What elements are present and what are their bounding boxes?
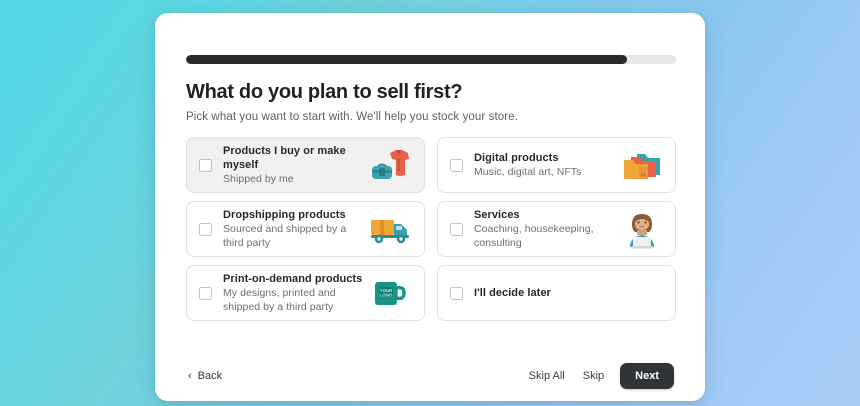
- option-card-print-on-demand-products[interactable]: Print-on-demand productsMy designs, prin…: [186, 265, 425, 321]
- option-text: ServicesCoaching, housekeeping, consulti…: [474, 208, 619, 250]
- option-description: Shipped by me: [223, 173, 364, 187]
- person-with-laptop-icon: [619, 209, 665, 249]
- sell-options-grid: Products I buy or make myselfShipped by …: [186, 137, 676, 321]
- progress-fill: [186, 55, 627, 64]
- checkbox-dropshipping-products[interactable]: [199, 223, 212, 236]
- checkbox-ill-decide-later[interactable]: [450, 287, 463, 300]
- onboarding-card: What do you plan to sell first? Pick wha…: [155, 13, 705, 401]
- chevron-left-icon: ‹: [188, 371, 192, 382]
- back-button[interactable]: ‹ Back: [186, 366, 224, 386]
- option-title: Print-on-demand products: [223, 272, 364, 286]
- option-title: Digital products: [474, 151, 615, 165]
- option-card-dropshipping-products[interactable]: Dropshipping productsSourced and shipped…: [186, 201, 425, 257]
- option-description: My designs, printed and shipped by a thi…: [223, 287, 364, 314]
- svg-text:LOGO: LOGO: [380, 292, 394, 297]
- page-title: What do you plan to sell first?: [186, 81, 462, 104]
- onboarding-progress-bar: [186, 55, 676, 64]
- delivery-truck-icon: [368, 209, 414, 249]
- option-card-services[interactable]: ServicesCoaching, housekeeping, consulti…: [437, 201, 676, 257]
- screen: What do you plan to sell first? Pick wha…: [0, 0, 860, 406]
- skip-button[interactable]: Skip: [581, 366, 606, 386]
- branded-mug-icon: YOURLOGO: [368, 273, 414, 313]
- skip-all-button[interactable]: Skip All: [527, 366, 567, 386]
- option-title: Products I buy or make myself: [223, 144, 364, 172]
- checkbox-services[interactable]: [450, 223, 463, 236]
- page-subtitle: Pick what you want to start with. We'll …: [186, 111, 518, 123]
- checkbox-digital-products[interactable]: [450, 159, 463, 172]
- folders-icon: [619, 145, 665, 185]
- option-description: Music, digital art, NFTs: [474, 166, 615, 180]
- option-title: Services: [474, 208, 615, 222]
- footer-actions: Skip All Skip Next: [527, 363, 674, 389]
- back-button-label: Back: [198, 370, 222, 382]
- option-description: Coaching, housekeeping, consulting: [474, 223, 615, 250]
- option-text: Digital productsMusic, digital art, NFTs: [474, 151, 619, 180]
- option-title: Dropshipping products: [223, 208, 364, 222]
- option-text: Products I buy or make myselfShipped by …: [223, 144, 368, 187]
- card-footer: ‹ Back Skip All Skip Next: [186, 361, 674, 391]
- option-card-products-i-buy-or-make-myself[interactable]: Products I buy or make myselfShipped by …: [186, 137, 425, 193]
- checkbox-print-on-demand-products[interactable]: [199, 287, 212, 300]
- option-text: Dropshipping productsSourced and shipped…: [223, 208, 368, 250]
- option-text: Print-on-demand productsMy designs, prin…: [223, 272, 368, 314]
- option-text: I'll decide later: [474, 286, 665, 300]
- option-title: I'll decide later: [474, 286, 661, 300]
- checkbox-products-i-buy-or-make-myself[interactable]: [199, 159, 212, 172]
- next-button[interactable]: Next: [620, 363, 674, 389]
- option-card-ill-decide-later[interactable]: I'll decide later: [437, 265, 676, 321]
- option-card-digital-products[interactable]: Digital productsMusic, digital art, NFTs: [437, 137, 676, 193]
- option-description: Sourced and shipped by a third party: [223, 223, 364, 250]
- bag-and-jacket-icon: [368, 145, 414, 185]
